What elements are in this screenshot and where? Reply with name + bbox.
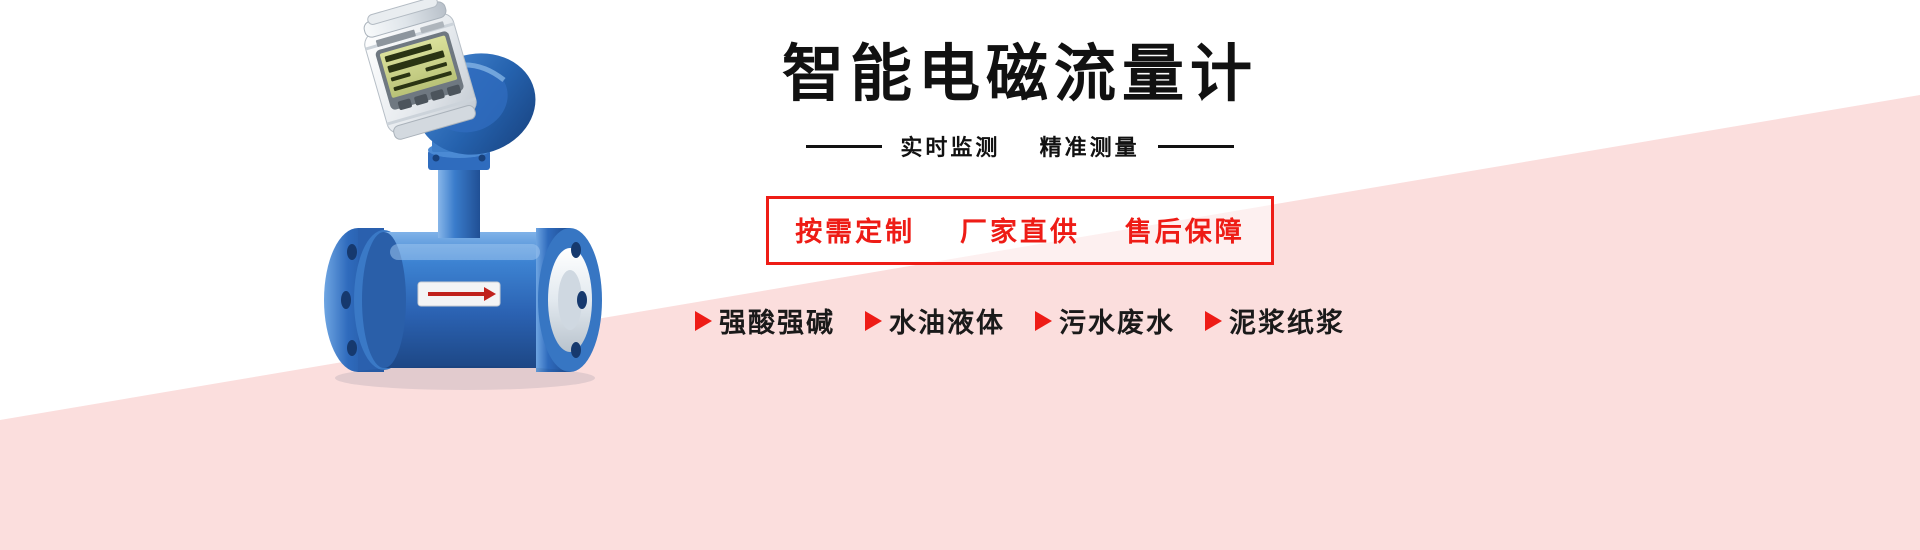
promo-banner: 智能电磁流量计 实时监测 精准测量 按需定制 厂家直供 售后保障 强酸强碱 (0, 0, 1920, 550)
feature-item-3: 污水废水 (1035, 301, 1175, 340)
arrow-right-icon (865, 311, 882, 331)
rule-right-decoration (1158, 145, 1234, 148)
arrow-right-icon (695, 311, 712, 331)
feature-list: 强酸强碱 水油液体 污水废水 泥浆纸浆 (660, 301, 1380, 340)
feature-item-1: 强酸强碱 (695, 301, 835, 340)
subtitle-row: 实时监测 精准测量 (660, 130, 1380, 162)
flowmeter-body (324, 228, 602, 372)
flowmeter-neck (428, 140, 490, 238)
subtitle-left: 实时监测 (900, 136, 1000, 161)
feature-label-3: 污水废水 (1059, 301, 1175, 340)
promo-item-1: 按需定制 (795, 217, 915, 248)
arrow-right-icon (1035, 311, 1052, 331)
flow-direction-plate (418, 282, 500, 306)
copy-column: 智能电磁流量计 实时监测 精准测量 按需定制 厂家直供 售后保障 强酸强碱 (660, 40, 1380, 340)
subtitle: 实时监测 精准测量 (900, 130, 1139, 162)
promo-text: 按需定制 厂家直供 售后保障 (795, 210, 1245, 249)
feature-label-1: 强酸强碱 (719, 301, 835, 340)
product-image (300, 0, 680, 420)
transmitter-head (357, 0, 481, 142)
page-title: 智能电磁流量计 (660, 40, 1380, 108)
promo-box: 按需定制 厂家直供 售后保障 (766, 196, 1274, 265)
feature-label-4: 泥浆纸浆 (1229, 301, 1345, 340)
feature-label-2: 水油液体 (889, 301, 1005, 340)
promo-item-2: 厂家直供 (960, 217, 1080, 248)
arrow-right-icon (1205, 311, 1222, 331)
rule-left-decoration (806, 145, 882, 148)
subtitle-right: 精准测量 (1040, 136, 1140, 161)
feature-item-4: 泥浆纸浆 (1205, 301, 1345, 340)
feature-item-2: 水油液体 (865, 301, 1005, 340)
promo-item-3: 售后保障 (1125, 217, 1245, 248)
